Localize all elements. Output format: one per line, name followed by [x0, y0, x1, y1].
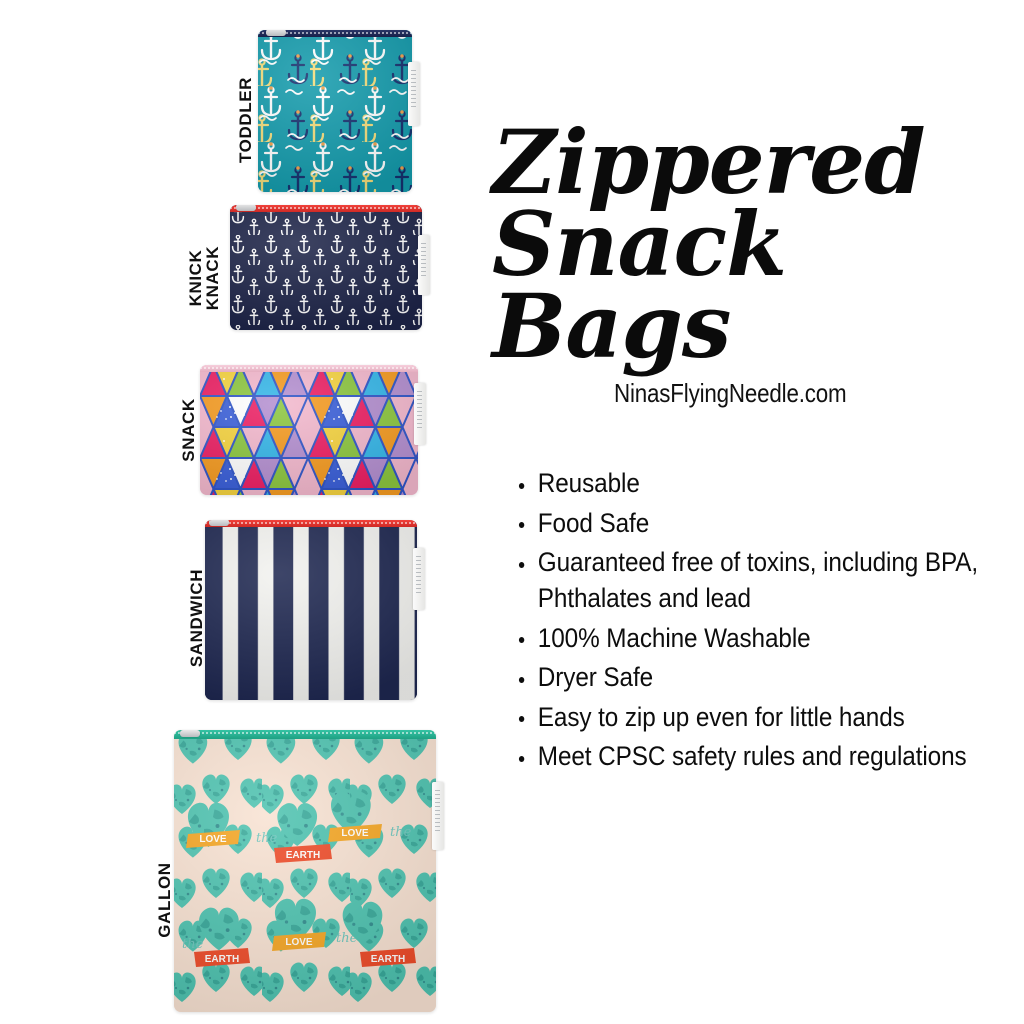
size-label-toddler: TODDLER	[237, 55, 257, 185]
list-item: 100% Machine Washable	[518, 621, 981, 657]
zipper-pull-gallon[interactable]	[180, 730, 200, 737]
page-title: Zippered Snack Bags	[492, 122, 1012, 367]
bag-fabric-snack	[200, 365, 418, 495]
list-item: Guaranteed free of toxins, including BPA…	[518, 545, 981, 616]
svg-text:EARTH: EARTH	[205, 954, 239, 965]
zipper-pull-toddler[interactable]	[266, 30, 286, 36]
word-the-1: the	[256, 831, 278, 846]
zipper-teeth	[174, 732, 436, 734]
care-tag-sandwich	[413, 548, 425, 610]
pattern-navy-anchors	[230, 205, 422, 330]
care-tag-toddler	[408, 62, 420, 126]
zipper-sandwich[interactable]	[205, 520, 417, 527]
product-bag-snack[interactable]	[200, 365, 418, 495]
bag-fabric-knick-knack	[230, 205, 422, 330]
zipper-teeth	[205, 522, 417, 524]
size-label-snack: SNACK	[180, 365, 200, 495]
product-bag-knick-knack[interactable]	[230, 205, 422, 330]
poster-canvas: TODDLER	[0, 0, 1024, 1024]
pattern-navy-stripes	[205, 520, 417, 700]
bag-fabric-sandwich	[205, 520, 417, 700]
care-tag-gallon	[432, 782, 444, 850]
list-item: Food Safe	[518, 506, 981, 542]
list-item: Easy to zip up even for little hands	[518, 700, 981, 736]
zipper-knick-knack[interactable]	[230, 205, 422, 212]
list-item: Meet CPSC safety rules and regulations	[518, 739, 981, 775]
list-item: Dryer Safe	[518, 660, 981, 696]
pattern-teal-anchors	[258, 30, 412, 192]
zipper-pull-knick-knack[interactable]	[236, 205, 256, 211]
zipper-gallon[interactable]	[174, 730, 436, 739]
tag-text-lines	[421, 243, 426, 279]
word-the-2: the	[390, 825, 412, 840]
svg-text:EARTH: EARTH	[286, 850, 320, 861]
svg-text:LOVE: LOVE	[199, 834, 227, 845]
zipper-teeth	[200, 367, 418, 369]
product-bag-sandwich[interactable]	[205, 520, 417, 700]
svg-text:LOVE: LOVE	[341, 828, 369, 839]
svg-text:LOVE: LOVE	[285, 937, 313, 948]
tag-text-lines	[417, 391, 422, 428]
zipper-pull-sandwich[interactable]	[209, 520, 229, 526]
tag-text-lines	[411, 70, 416, 108]
svg-text:EARTH: EARTH	[371, 954, 405, 965]
size-label-knick-knack: KNICK KNACK	[187, 203, 227, 353]
tag-text-lines	[416, 556, 421, 593]
zipper-snack[interactable]	[200, 365, 418, 372]
word-the-3: the	[182, 937, 204, 952]
feature-list: Reusable Food Safe Guaranteed free of to…	[518, 466, 958, 779]
bag-fabric-toddler	[258, 30, 412, 192]
care-tag-snack	[414, 383, 426, 445]
website-url[interactable]: NinasFlyingNeedle.com	[614, 378, 847, 409]
bag-fabric-gallon: LOVE the EARTH LOVE the EARTH	[174, 730, 436, 1012]
pattern-rainbow-triangles	[200, 365, 418, 495]
product-bag-gallon[interactable]: LOVE the EARTH LOVE the EARTH	[174, 730, 436, 1012]
size-label-gallon: GALLON	[156, 830, 176, 970]
product-bag-toddler[interactable]	[258, 30, 412, 192]
tag-text-lines	[435, 790, 440, 831]
pattern-love-the-earth: LOVE the EARTH LOVE the EARTH	[174, 730, 436, 1012]
list-item: Reusable	[518, 466, 981, 502]
zipper-teeth	[230, 207, 422, 209]
care-tag-knick-knack	[418, 235, 430, 295]
